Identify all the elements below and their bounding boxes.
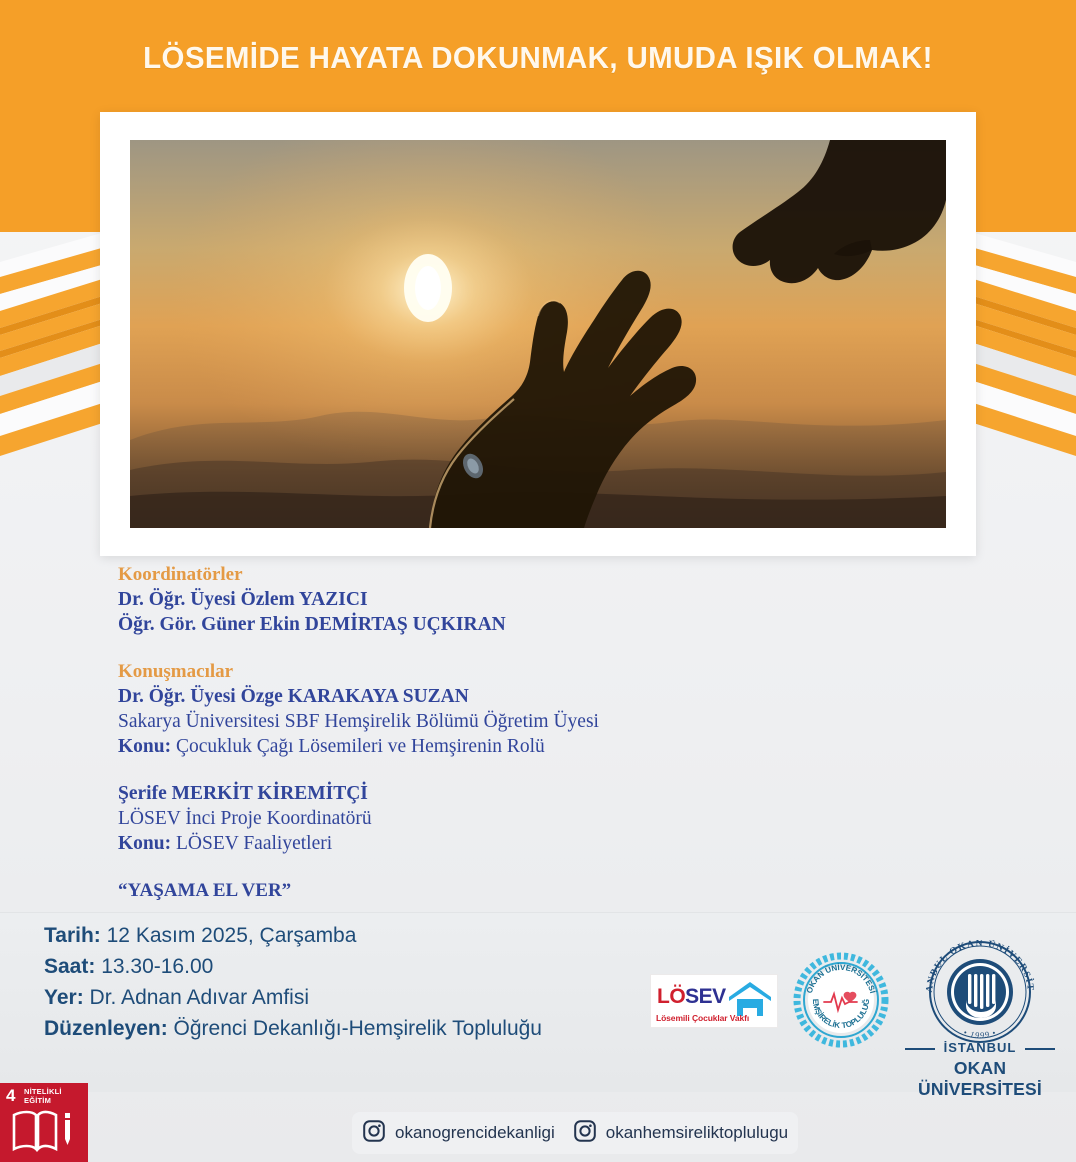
organizer-row: Düzenleyen: Öğrenci Dekanlığı-Hemşirelik…: [44, 1013, 542, 1044]
instagram-icon: [573, 1119, 597, 1148]
okan-university-logo: İSTANBUL OKAN ÜNİVERSİTESİ • 1999 • İSTA…: [895, 940, 1065, 1085]
sdg-label-line1: NİTELİKLİ: [24, 1087, 62, 1096]
sdg-number: 4: [6, 1087, 15, 1104]
sdg-4-badge: 4 NİTELİKLİ EĞİTİM: [0, 1083, 88, 1162]
speaker-name: Dr. Öğr. Üyesi Özge KARAKAYA SUZAN: [118, 684, 878, 709]
place-row: Yer: Dr. Adnan Adıvar Amfisi: [44, 982, 542, 1013]
photo-frame: [100, 112, 976, 556]
nursing-society-seal: OKAN ÜNİVERSİTESİ HEMŞİRELİK TOPLULUĞU: [793, 952, 889, 1048]
date-label: Tarih:: [44, 924, 101, 947]
social-handle: okanhemsireliktoplulugu: [606, 1123, 788, 1143]
losev-name-part1: LÖ: [657, 985, 685, 1008]
spacer: [118, 856, 878, 878]
spacer: [118, 759, 878, 781]
okan-name-label: OKAN ÜNİVERSİTESİ: [895, 1058, 1065, 1100]
program-details: Koordinatörler Dr. Öğr. Üyesi Özlem YAZI…: [118, 562, 878, 903]
social-account-2[interactable]: okanhemsireliktoplulugu: [573, 1119, 788, 1148]
svg-text:• 1999 •: • 1999 •: [962, 1027, 998, 1040]
event-poster: LÖSEMİDE HAYATA DOKUNMAK, UMUDA IŞIK OLM…: [0, 0, 1076, 1162]
speakers-heading: Konuşmacılar: [118, 659, 878, 684]
page-title: LÖSEMİDE HAYATA DOKUNMAK, UMUDA IŞIK OLM…: [27, 40, 1049, 76]
speaker-affiliation: LÖSEV İnci Proje Koordinatörü: [118, 806, 878, 831]
instagram-icon: [362, 1119, 386, 1148]
losev-wordmark: LÖSEV: [657, 985, 726, 1009]
time-value: 13.30-16.00: [101, 955, 213, 978]
losev-name-part2: SEV: [685, 985, 726, 1008]
losev-subtitle: Lösemili Çocuklar Vakfı: [656, 1013, 749, 1023]
topic-label: Konu:: [118, 833, 171, 854]
speaker-block: Şerife MERKİT KİREMİTÇİ LÖSEV İnci Proje…: [118, 781, 878, 856]
date-row: Tarih: 12 Kasım 2025, Çarşamba: [44, 920, 542, 951]
spacer: [118, 637, 878, 659]
organizer-label: Düzenleyen:: [44, 1017, 168, 1040]
coordinator-name: Dr. Öğr. Üyesi Özlem YAZICI: [118, 587, 878, 612]
speaker-block: Dr. Öğr. Üyesi Özge KARAKAYA SUZAN Sakar…: [118, 684, 878, 759]
okan-city-label: İSTANBUL: [895, 1040, 1065, 1055]
coordinator-name: Öğr. Gör. Güner Ekin DEMİRTAŞ UÇKIRAN: [118, 612, 878, 637]
sdg-label-line2: EĞİTİM: [24, 1096, 62, 1105]
coordinators-heading: Koordinatörler: [118, 562, 878, 587]
losev-logo: LÖSEV Lösemili Çocuklar Vakfı: [650, 974, 778, 1028]
time-row: Saat: 13.30-16.00: [44, 951, 542, 982]
sdg-label: NİTELİKLİ EĞİTİM: [24, 1087, 62, 1105]
topic-value: LÖSEV Faaliyetleri: [176, 833, 332, 854]
social-handle: okanogrencidekanligi: [395, 1123, 555, 1143]
date-value: 12 Kasım 2025, Çarşamba: [107, 924, 357, 947]
speaker-affiliation: Sakarya Üniversitesi SBF Hemşirelik Bölü…: [118, 709, 878, 734]
speaker-name: Şerife MERKİT KİREMİTÇİ: [118, 781, 878, 806]
social-account-1[interactable]: okanogrencidekanligi: [362, 1119, 555, 1148]
sponsor-logos: LÖSEV Lösemili Çocuklar Vakfı OKAN ÜNİVE…: [645, 940, 1065, 1085]
topic-label: Konu:: [118, 736, 171, 757]
okan-year-text: • 1999 •: [962, 1027, 998, 1040]
event-logistics: Tarih: 12 Kasım 2025, Çarşamba Saat: 13.…: [44, 920, 542, 1044]
social-media-bar: okanogrencidekanligi okanhemsireliktoplu…: [352, 1112, 798, 1154]
time-label: Saat:: [44, 955, 95, 978]
okan-seal-icon: İSTANBUL OKAN ÜNİVERSİTESİ • 1999 •: [919, 940, 1041, 1049]
speaker-topic: Konu: Çocukluk Çağı Lösemileri ve Hemşir…: [118, 734, 878, 759]
slogan-quote: “YAŞAMA EL VER”: [118, 878, 878, 903]
book-pencil-icon: [12, 1109, 74, 1158]
speaker-topic: Konu: LÖSEV Faaliyetleri: [118, 831, 878, 856]
sunset-reaching-hands-photo: [130, 140, 946, 528]
organizer-value: Öğrenci Dekanlığı-Hemşirelik Topluluğu: [174, 1017, 542, 1040]
place-label: Yer:: [44, 986, 84, 1009]
place-value: Dr. Adnan Adıvar Amfisi: [90, 986, 309, 1009]
topic-value: Çocukluk Çağı Lösemileri ve Hemşirenin R…: [176, 736, 545, 757]
